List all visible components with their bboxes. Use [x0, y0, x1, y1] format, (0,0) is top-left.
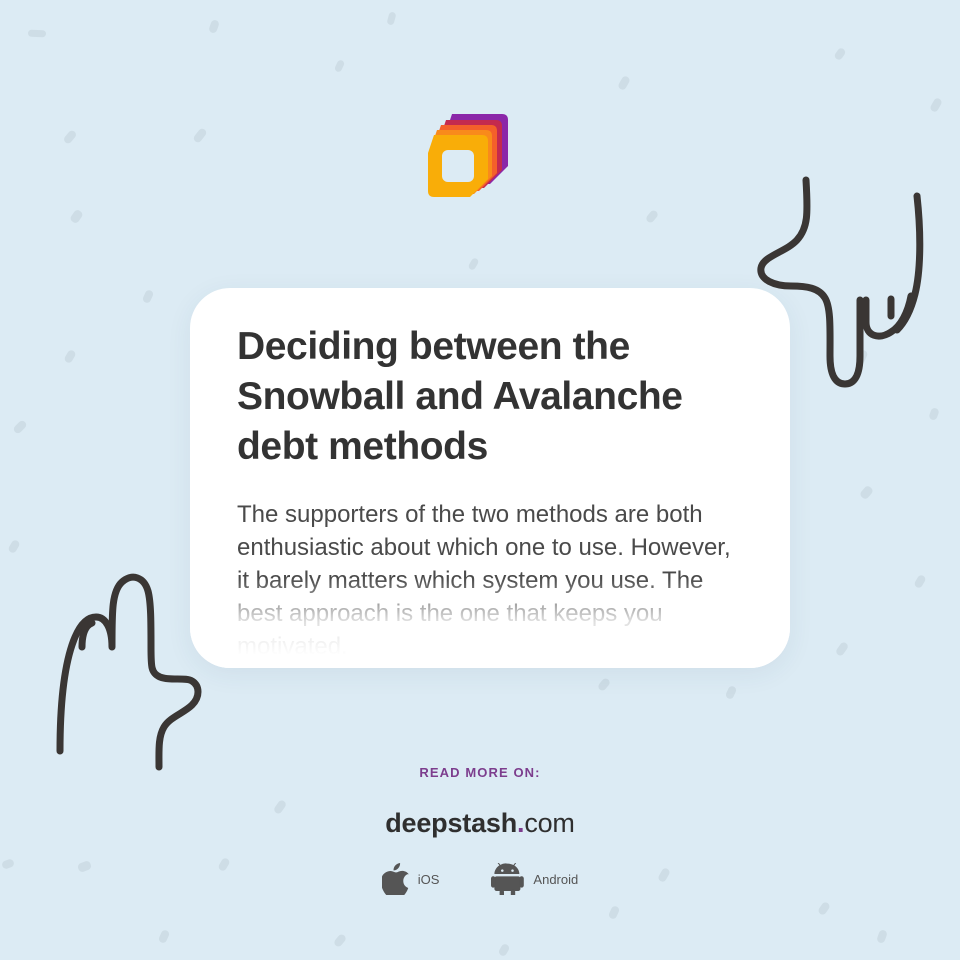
confetti-speck — [28, 30, 46, 38]
footer: READ MORE ON: deepstash.com iOS — [0, 765, 960, 895]
confetti-speck — [63, 349, 76, 364]
confetti-speck — [928, 407, 940, 421]
confetti-speck — [62, 129, 77, 145]
confetti-speck — [142, 289, 155, 304]
confetti-speck — [192, 127, 208, 144]
confetti-speck — [334, 59, 345, 73]
confetti-speck — [876, 929, 888, 944]
confetti-speck — [929, 97, 943, 113]
confetti-speck — [833, 47, 846, 61]
idea-card: Deciding between the Snowball and Avalan… — [190, 288, 790, 668]
confetti-speck — [904, 297, 916, 312]
wordmark-tld: com — [524, 808, 574, 838]
page-title: Deciding between the Snowball and Avalan… — [237, 322, 744, 472]
confetti-speck — [12, 419, 28, 435]
android-label: Android — [533, 872, 578, 887]
idea-body-text: The supporters of the two methods are bo… — [237, 498, 744, 663]
post-card-canvas: Deciding between the Snowball and Avalan… — [0, 0, 960, 960]
confetti-speck — [467, 257, 479, 271]
ios-store-badge[interactable]: iOS — [382, 863, 440, 895]
confetti-speck — [617, 75, 631, 91]
deepstash-logo — [428, 100, 520, 200]
confetti-speck — [158, 929, 171, 944]
confetti-speck — [913, 574, 926, 589]
read-more-label: READ MORE ON: — [0, 765, 960, 780]
confetti-speck — [835, 641, 850, 657]
confetti-speck — [333, 933, 347, 948]
confetti-speck — [817, 901, 831, 916]
pointing-hand-up-icon — [20, 555, 210, 785]
confetti-speck — [69, 209, 84, 225]
confetti-speck — [608, 905, 621, 920]
apple-icon — [382, 863, 409, 895]
confetti-speck — [645, 209, 659, 224]
idea-card-content: Deciding between the Snowball and Avalan… — [190, 288, 790, 663]
confetti-speck — [386, 11, 396, 25]
ios-label: iOS — [418, 872, 440, 887]
confetti-speck — [855, 349, 868, 365]
android-icon — [491, 863, 524, 895]
confetti-speck — [725, 685, 738, 700]
wordmark-name: deepstash — [385, 808, 517, 838]
confetti-speck — [208, 19, 220, 34]
confetti-speck — [498, 943, 511, 957]
store-badges: iOS Android — [0, 863, 960, 895]
deepstash-wordmark[interactable]: deepstash.com — [0, 808, 960, 839]
confetti-speck — [859, 485, 874, 501]
confetti-speck — [597, 677, 611, 692]
confetti-speck — [7, 539, 20, 554]
android-store-badge[interactable]: Android — [491, 863, 578, 895]
